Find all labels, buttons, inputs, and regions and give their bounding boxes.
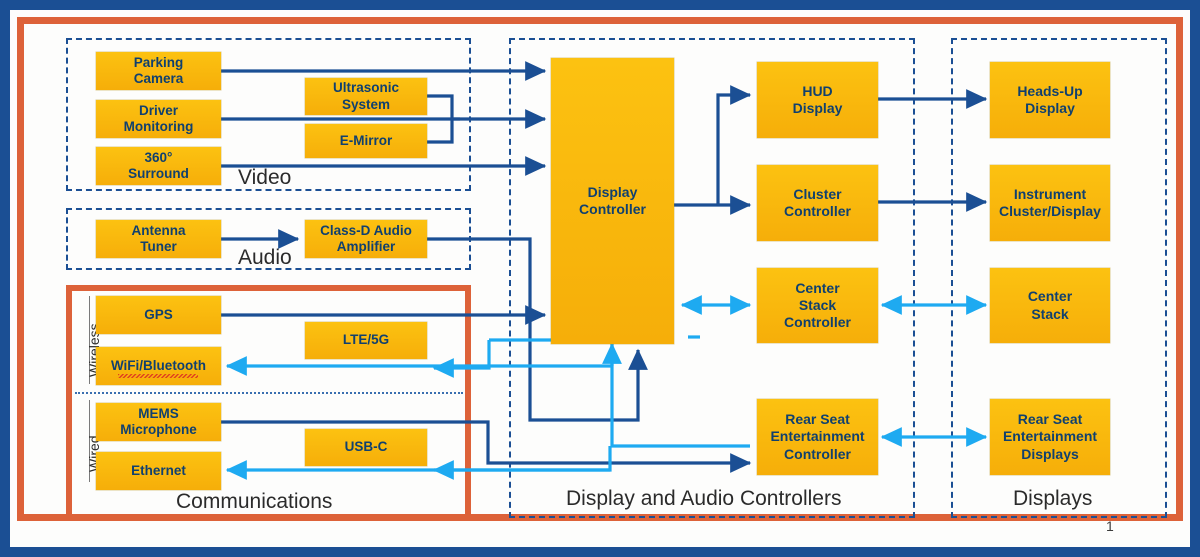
block-wifi-bluetooth[interactable]: WiFi/Bluetooth (96, 347, 221, 385)
block-ultrasonic-system[interactable]: Ultrasonic System (305, 78, 427, 115)
block-instrument-cluster-display[interactable]: Instrument Cluster/Display (990, 165, 1110, 241)
block-heads-up-display[interactable]: Heads-Up Display (990, 62, 1110, 138)
page-number: 1 (1106, 518, 1114, 534)
block-360-surround[interactable]: 360° Surround (96, 147, 221, 185)
block-ethernet[interactable]: Ethernet (96, 452, 221, 490)
block-usb-c[interactable]: USB-C (305, 429, 427, 466)
block-center-stack[interactable]: Center Stack (990, 268, 1110, 343)
block-driver-monitoring[interactable]: Driver Monitoring (96, 100, 221, 138)
block-cluster-controller[interactable]: Cluster Controller (757, 165, 878, 241)
block-parking-camera[interactable]: Parking Camera (96, 52, 221, 90)
group-displays-label: Displays (1013, 487, 1092, 511)
block-lte-5g[interactable]: LTE/5G (305, 322, 427, 359)
block-hud-display[interactable]: HUD Display (757, 62, 878, 138)
block-mems-microphone[interactable]: MEMS Microphone (96, 403, 221, 441)
spellcheck-squiggle-wifi-bluetooth (118, 374, 198, 378)
comm-wireless-wired-divider (75, 392, 463, 394)
block-class-d-audio-amplifier[interactable]: Class-D Audio Amplifier (305, 220, 427, 258)
block-e-mirror[interactable]: E-Mirror (305, 124, 427, 158)
group-communications-label: Communications (176, 490, 332, 514)
block-center-stack-controller[interactable]: Center Stack Controller (757, 268, 878, 343)
block-rear-seat-entertainment-controller[interactable]: Rear Seat Entertainment Controller (757, 399, 878, 475)
block-rear-seat-entertainment-displays[interactable]: Rear Seat Entertainment Displays (990, 399, 1110, 475)
group-controllers-label: Display and Audio Controllers (566, 487, 841, 511)
block-antenna-tuner[interactable]: Antenna Tuner (96, 220, 221, 258)
block-display-controller[interactable]: Display Controller (551, 58, 674, 344)
group-audio-label: Audio (238, 246, 292, 270)
diagram-canvas: Video Audio Display and Audio Controller… (0, 0, 1200, 557)
block-gps[interactable]: GPS (96, 296, 221, 334)
group-video-label: Video (238, 166, 291, 190)
